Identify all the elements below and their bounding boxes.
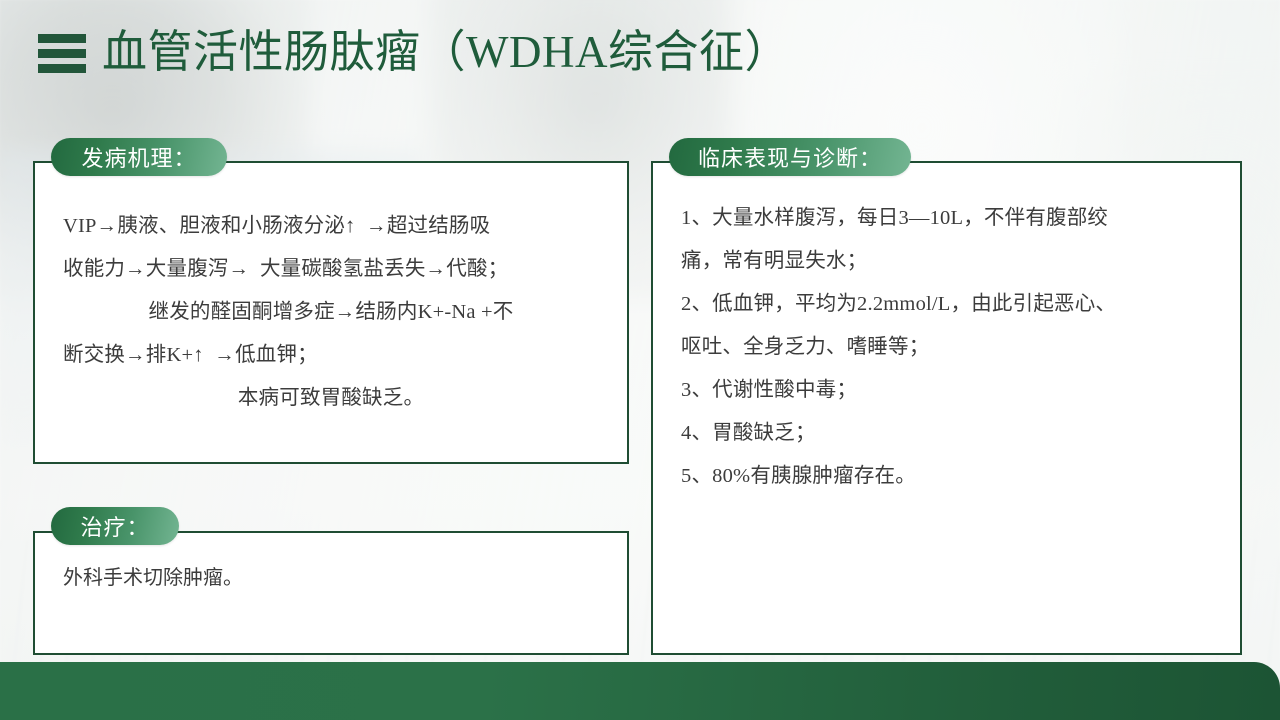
clinical-line-6: 4、胃酸缺乏； [681, 412, 1212, 455]
mechanism-line-5: 本病可致胃酸缺乏。 [63, 377, 599, 420]
mechanism-line-1: VIP→胰液、胆液和小肠液分泌↑ →超过结肠吸 [63, 205, 599, 248]
mechanism-line-2: 收能力→大量腹泻→ 大量碳酸氢盐丢失→代酸； [63, 248, 599, 291]
clinical-body: 1、大量水样腹泻，每日3—10L，不伴有腹部绞 痛，常有明显失水； 2、低血钾，… [653, 197, 1240, 498]
panel-mechanism: VIP→胰液、胆液和小肠液分泌↑ →超过结肠吸 收能力→大量腹泻→ 大量碳酸氢盐… [33, 161, 629, 464]
panel-treatment: 外科手术切除肿瘤。 [33, 531, 629, 655]
hamburger-bar-3 [38, 64, 86, 73]
mechanism-body: VIP→胰液、胆液和小肠液分泌↑ →超过结肠吸 收能力→大量腹泻→ 大量碳酸氢盐… [35, 205, 627, 420]
clinical-line-2: 痛，常有明显失水； [681, 240, 1212, 283]
footer-bar [0, 662, 1280, 720]
treatment-body: 外科手术切除肿瘤。 [35, 561, 627, 595]
section-heading-clinical: 临床表现与诊断： [669, 138, 911, 176]
clinical-line-5: 3、代谢性酸中毒； [681, 369, 1212, 412]
hamburger-icon[interactable] [38, 33, 86, 73]
panel-clinical: 1、大量水样腹泻，每日3—10L，不伴有腹部绞 痛，常有明显失水； 2、低血钾，… [651, 161, 1242, 655]
clinical-line-7: 5、80%有胰腺肿瘤存在。 [681, 455, 1212, 498]
hamburger-bar-1 [38, 34, 86, 43]
slide-canvas: 血管活性肠肽瘤（WDHA综合征） VIP→胰液、胆液和小肠液分泌↑ →超过结肠吸… [0, 0, 1280, 720]
clinical-line-4: 呕吐、全身乏力、嗜睡等； [681, 326, 1212, 369]
clinical-line-3: 2、低血钾，平均为2.2mmol/L，由此引起恶心、 [681, 283, 1212, 326]
section-heading-treatment: 治疗： [51, 507, 179, 545]
clinical-line-1: 1、大量水样腹泻，每日3—10L，不伴有腹部绞 [681, 197, 1212, 240]
hamburger-bar-2 [38, 49, 86, 58]
mechanism-line-4: 断交换→排K+↑ →低血钾； [63, 334, 599, 377]
section-heading-mechanism: 发病机理： [51, 138, 227, 176]
mechanism-line-3: 继发的醛固酮增多症→结肠内K+-Na +不 [63, 291, 599, 334]
page-title: 血管活性肠肽瘤（WDHA综合征） [102, 30, 790, 75]
slide-header: 血管活性肠肽瘤（WDHA综合征） [38, 30, 790, 75]
treatment-line-1: 外科手术切除肿瘤。 [63, 561, 599, 595]
